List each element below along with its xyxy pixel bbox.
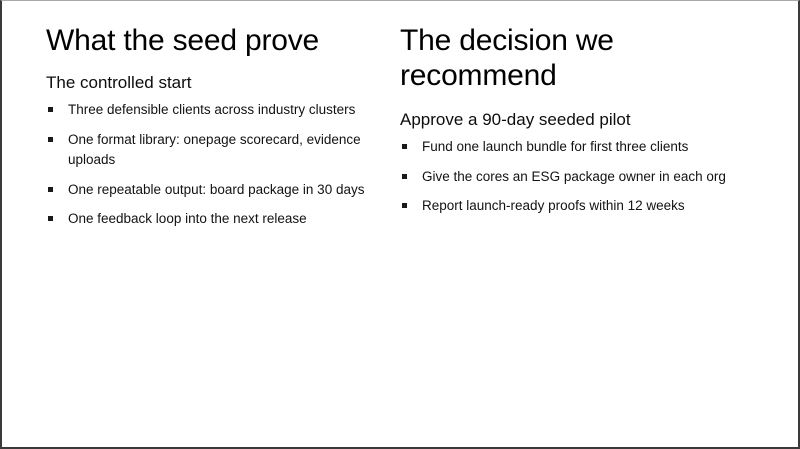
- list-item: Give the cores an ESG package owner in e…: [400, 167, 752, 188]
- presentation-slide: What the seed prove The controlled start…: [0, 0, 800, 449]
- slide-column-left: What the seed prove The controlled start…: [46, 23, 394, 239]
- square-bullet-icon: [48, 216, 53, 221]
- list-item-label: Report launch-ready proofs within 12 wee…: [422, 198, 685, 213]
- bullet-list-right: Fund one launch bundle for first three c…: [400, 137, 752, 217]
- square-bullet-icon: [402, 174, 407, 179]
- list-item: One format library: onepage scorecard, e…: [46, 130, 394, 171]
- square-bullet-icon: [402, 144, 407, 149]
- list-item-label: Three defensible clients across industry…: [68, 102, 355, 117]
- list-item-label: One format library: onepage scorecard, e…: [68, 132, 361, 168]
- page-title: What the seed prove: [46, 23, 394, 58]
- list-item: Three defensible clients across industry…: [46, 100, 394, 121]
- slide-column-right: The decision we recommend Approve a 90-d…: [400, 23, 752, 226]
- list-item: Report launch-ready proofs within 12 wee…: [400, 196, 752, 217]
- list-item-label: One repeatable output: board package in …: [68, 182, 364, 197]
- square-bullet-icon: [48, 187, 53, 192]
- square-bullet-icon: [48, 107, 53, 112]
- slide-content-area: What the seed prove The controlled start…: [2, 1, 798, 447]
- section-subtitle-right: Approve a 90-day seeded pilot: [400, 109, 752, 131]
- list-item-label: Fund one launch bundle for first three c…: [422, 139, 688, 154]
- list-item: One repeatable output: board package in …: [46, 180, 394, 201]
- secondary-title: The decision we recommend: [400, 23, 752, 93]
- list-item: One feedback loop into the next release: [46, 209, 394, 230]
- square-bullet-icon: [48, 137, 53, 142]
- square-bullet-icon: [402, 203, 407, 208]
- section-subtitle-left: The controlled start: [46, 72, 394, 94]
- list-item-label: One feedback loop into the next release: [68, 211, 307, 226]
- bullet-list-left: Three defensible clients across industry…: [46, 100, 394, 230]
- list-item: Fund one launch bundle for first three c…: [400, 137, 752, 158]
- list-item-label: Give the cores an ESG package owner in e…: [422, 169, 726, 184]
